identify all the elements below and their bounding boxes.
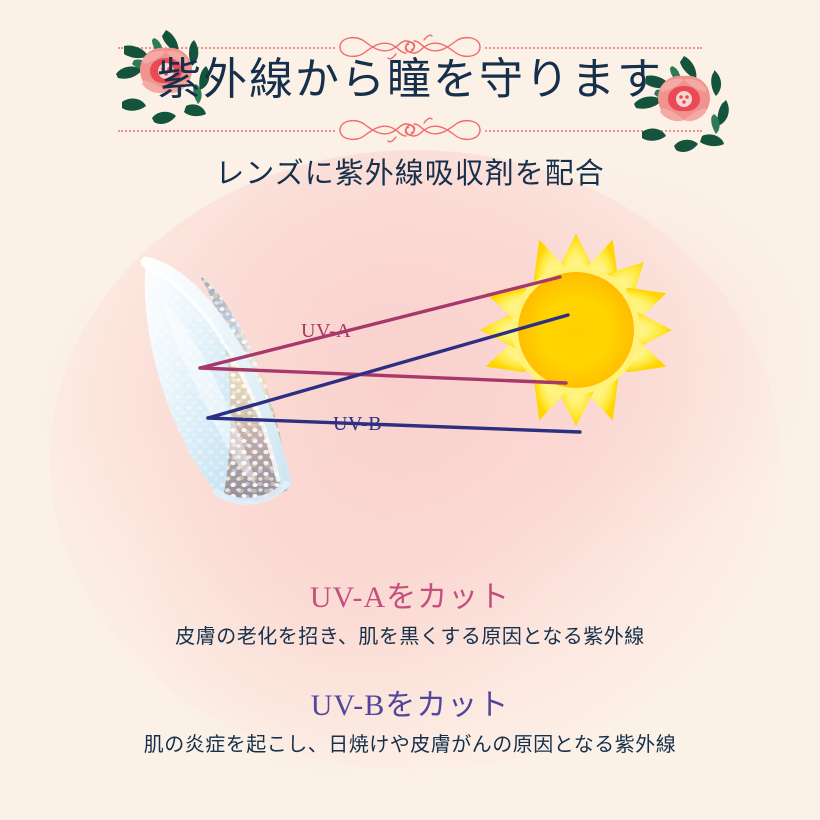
uva-label: UV-A — [301, 320, 351, 343]
uva-block-description: 皮膚の老化を招き、肌を黒くする原因となる紫外線 — [0, 624, 820, 650]
uva-ray-1 — [200, 277, 560, 368]
uva-ray-2 — [200, 368, 566, 383]
uvb-block-description: 肌の炎症を起こし、日焼けや皮膚がんの原因となる紫外線 — [0, 732, 820, 758]
uv-ray-lines — [0, 215, 820, 545]
header: 紫外線から瞳を守ります — [0, 0, 820, 150]
uva-block: UV-Aをカット 皮膚の老化を招き、肌を黒くする原因となる紫外線 — [0, 580, 820, 650]
uvb-label: UV-B — [333, 413, 382, 436]
page-subtitle: レンズに紫外線吸収剤を配合 — [0, 160, 820, 189]
uva-block-heading: UV-Aをカット — [0, 580, 820, 616]
uvb-ray-2 — [208, 418, 580, 432]
uvb-block: UV-Bをカット 肌の炎症を起こし、日焼けや皮膚がんの原因となる紫外線 — [0, 688, 820, 758]
uvb-ray-1 — [208, 315, 568, 418]
uv-illustration: UV-A UV-B — [0, 215, 820, 545]
uv-protection-infographic: 紫外線から瞳を守ります レンズに紫外線吸収剤を配合 — [0, 0, 820, 820]
page-title: 紫外線から瞳を守ります — [0, 58, 820, 102]
scroll-flourish-bottom-icon — [330, 113, 490, 147]
uvb-block-heading: UV-Bをカット — [0, 688, 820, 724]
